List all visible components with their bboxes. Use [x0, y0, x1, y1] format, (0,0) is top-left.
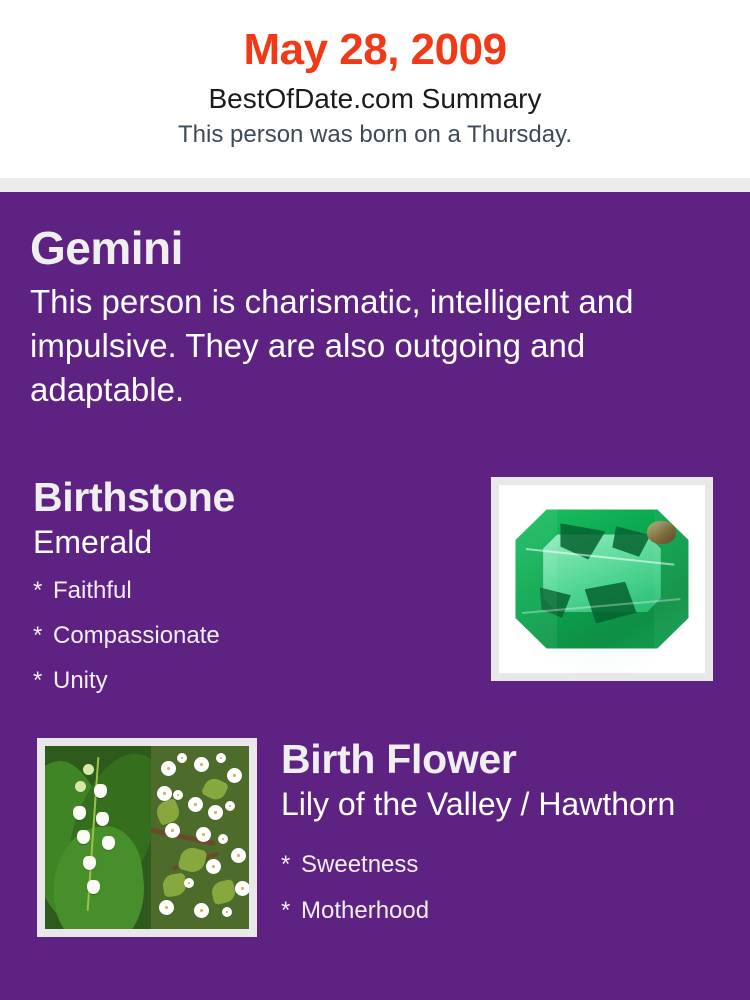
hawthorn-blossom [216, 753, 226, 763]
leaf-shape [201, 775, 229, 803]
page-root: May 28, 2009 BestOfDate.com Summary This… [0, 0, 750, 1000]
leaf-shape [178, 846, 209, 876]
birth-flower-trait-label: Motherhood [301, 897, 429, 924]
birth-flower-trait-list: *Sweetness *Motherhood [281, 824, 741, 934]
hawthorn-blossom [188, 797, 203, 812]
hawthorn-blossom [196, 827, 211, 842]
asterisk-icon: * [33, 613, 53, 658]
hawthorn-blossom [235, 881, 249, 896]
list-item: *Motherhood [281, 888, 741, 934]
birthstone-trait-list: *Faithful *Compassionate *Unity [33, 562, 473, 703]
header: May 28, 2009 BestOfDate.com Summary This… [0, 0, 750, 178]
asterisk-icon: * [33, 568, 53, 613]
birth-flower-image-frame [37, 738, 257, 937]
hawthorn-blossom [208, 805, 223, 820]
list-item: *Compassionate [33, 613, 473, 658]
hawthorn-photo [151, 746, 249, 929]
site-name: BestOfDate.com Summary [0, 76, 750, 116]
birthstone-section: Birthstone Emerald *Faithful *Compassion… [33, 473, 473, 703]
hawthorn-blossom [177, 753, 187, 763]
lily-bell-flower [102, 836, 115, 850]
flower-bud [83, 764, 94, 775]
gem-side-facet [515, 509, 557, 648]
asterisk-icon: * [281, 888, 301, 934]
birthstone-trait-label: Compassionate [53, 622, 220, 649]
birthstone-trait-label: Faithful [53, 577, 132, 604]
hawthorn-blossom [227, 768, 242, 783]
birth-flower-section: Birth Flower Lily of the Valley / Hawtho… [281, 735, 741, 934]
hawthorn-blossom [173, 790, 183, 800]
emerald-gem-shape [515, 509, 688, 648]
gem-side-facet [654, 509, 689, 648]
page-title-date: May 28, 2009 [0, 0, 750, 76]
list-item: *Faithful [33, 568, 473, 613]
birth-flower-title: Birth Flower [281, 735, 741, 783]
birth-flower-name: Lily of the Valley / Hawthorn [281, 783, 741, 824]
flower-photo-pair [45, 746, 249, 929]
birthstone-name: Emerald [33, 521, 473, 562]
lily-of-the-valley-photo [45, 746, 151, 929]
hawthorn-blossom [218, 834, 228, 844]
hawthorn-blossom [184, 878, 194, 888]
birthstone-image [499, 485, 705, 673]
header-divider [0, 178, 750, 192]
zodiac-section: Gemini This person is charismatic, intel… [30, 220, 720, 412]
leaf-shape [154, 798, 182, 826]
hawthorn-blossom [206, 859, 221, 874]
asterisk-icon: * [281, 842, 301, 888]
birthstone-image-frame [491, 477, 713, 681]
hawthorn-blossom [161, 761, 176, 776]
hawthorn-blossom [231, 848, 246, 863]
zodiac-sign-name: Gemini [30, 220, 720, 276]
hawthorn-blossom [165, 823, 180, 838]
birthstone-title: Birthstone [33, 473, 473, 521]
lily-bell-flower [96, 812, 109, 826]
hawthorn-blossom [194, 757, 209, 772]
leaf-shape [210, 879, 238, 905]
birthstone-trait-label: Unity [53, 667, 108, 694]
list-item: *Unity [33, 658, 473, 703]
lily-bell-flower [73, 806, 86, 820]
hawthorn-blossom [225, 801, 235, 811]
hawthorn-blossom [222, 907, 232, 917]
zodiac-description: This person is charismatic, intelligent … [30, 276, 700, 412]
asterisk-icon: * [33, 658, 53, 703]
hawthorn-blossom [159, 900, 174, 915]
birth-flower-image [45, 746, 249, 929]
list-item: *Sweetness [281, 842, 741, 888]
weekday-statement: This person was born on a Thursday. [0, 116, 750, 150]
lily-bell-flower [83, 856, 96, 870]
hawthorn-blossom [194, 903, 209, 918]
flower-bud [75, 781, 86, 792]
gemstone-photo [499, 485, 705, 673]
lily-bell-flower [87, 880, 100, 894]
birth-flower-trait-label: Sweetness [301, 851, 418, 878]
lily-bell-flower [77, 830, 90, 844]
